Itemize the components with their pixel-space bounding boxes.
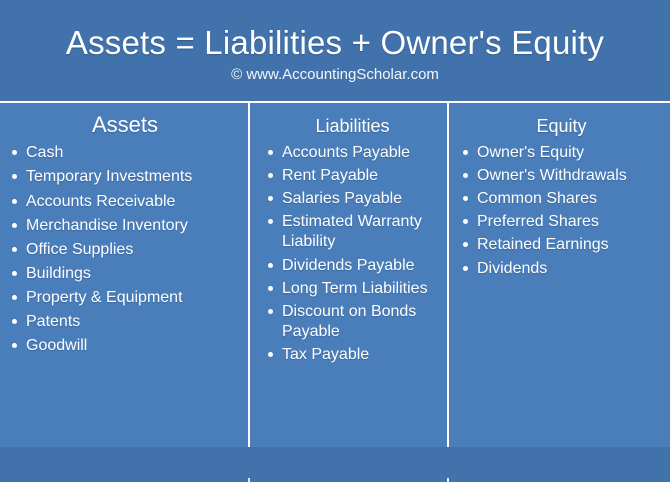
page-title: Assets = Liabilities + Owner's Equity (0, 0, 670, 61)
column-divider-stub-left (248, 478, 250, 482)
list-item-label: Dividends Payable (282, 257, 415, 274)
bullet-icon (12, 343, 17, 348)
list-item-label: Dividends (477, 260, 547, 277)
bullet-icon (463, 196, 468, 201)
list-item-label: Accounts Payable (282, 144, 410, 161)
column-assets: Assets Cash Temporary Investments Accoun… (0, 103, 248, 447)
column-heading-liabilities: Liabilities (266, 109, 439, 143)
list-item: Office Supplies (10, 240, 240, 260)
list-item: Discount on Bonds Payable (266, 302, 439, 342)
column-liabilities: Liabilities Accounts Payable Rent Payabl… (248, 103, 447, 447)
list-item: Rent Payable (266, 166, 439, 186)
list-item: Cash (10, 143, 240, 163)
column-divider-stub-right (447, 478, 449, 482)
list-item-label: Discount on Bonds Payable (282, 303, 416, 340)
accounting-equation-slide: Assets = Liabilities + Owner's Equity © … (0, 0, 670, 482)
list-item: Accounts Receivable (10, 192, 240, 212)
list-item: Temporary Investments (10, 167, 240, 187)
list-item-label: Long Term Liabilities (282, 280, 428, 297)
list-item-label: Accounts Receivable (26, 193, 175, 210)
list-item: Property & Equipment (10, 288, 240, 308)
list-item: Long Term Liabilities (266, 279, 439, 299)
list-item: Owner's Equity (461, 143, 662, 163)
footer-band (0, 447, 670, 482)
list-item-label: Owner's Withdrawals (477, 167, 627, 184)
bullet-icon (12, 174, 17, 179)
list-item-label: Owner's Equity (477, 144, 584, 161)
list-item-label: Preferred Shares (477, 213, 599, 230)
bullet-icon (268, 352, 273, 357)
list-item-label: Merchandise Inventory (26, 217, 188, 234)
list-item-label: Common Shares (477, 190, 597, 207)
bullet-icon (463, 173, 468, 178)
bullet-icon (12, 223, 17, 228)
column-equity: Equity Owner's Equity Owner's Withdrawal… (447, 103, 670, 447)
list-item: Owner's Withdrawals (461, 166, 662, 186)
bullet-icon (12, 150, 17, 155)
slide-header: Assets = Liabilities + Owner's Equity © … (0, 0, 670, 101)
bullet-icon (12, 247, 17, 252)
bullet-icon (12, 295, 17, 300)
bullet-icon (268, 286, 273, 291)
bullet-icon (463, 150, 468, 155)
bullet-icon (268, 196, 273, 201)
list-item: Tax Payable (266, 345, 439, 365)
list-item-label: Property & Equipment (26, 289, 183, 306)
list-item-label: Patents (26, 313, 80, 330)
column-heading-assets: Assets (10, 109, 240, 143)
bullet-icon (463, 219, 468, 224)
copyright-subtitle: © www.AccountingScholar.com (0, 61, 670, 83)
bullet-icon (268, 263, 273, 268)
list-item-label: Estimated Warranty Liability (282, 213, 422, 250)
column-heading-equity: Equity (461, 109, 662, 143)
list-item: Salaries Payable (266, 189, 439, 209)
bullet-icon (12, 319, 17, 324)
list-item-label: Salaries Payable (282, 190, 402, 207)
list-item: Goodwill (10, 336, 240, 356)
bullet-icon (12, 199, 17, 204)
list-item: Patents (10, 312, 240, 332)
assets-list: Cash Temporary Investments Accounts Rece… (10, 143, 240, 356)
list-item-label: Buildings (26, 265, 91, 282)
liabilities-list: Accounts Payable Rent Payable Salaries P… (266, 143, 439, 366)
list-item-label: Office Supplies (26, 241, 133, 258)
list-item-label: Retained Earnings (477, 236, 609, 253)
list-item: Common Shares (461, 189, 662, 209)
list-item-label: Goodwill (26, 337, 87, 354)
bullet-icon (463, 266, 468, 271)
list-item: Buildings (10, 264, 240, 284)
list-item-label: Tax Payable (282, 346, 369, 363)
list-item: Dividends (461, 259, 662, 279)
list-item-label: Cash (26, 144, 63, 161)
equation-columns-panel: Assets Cash Temporary Investments Accoun… (0, 101, 670, 447)
bullet-icon (268, 150, 273, 155)
bullet-icon (268, 173, 273, 178)
equity-list: Owner's Equity Owner's Withdrawals Commo… (461, 143, 662, 279)
list-item: Estimated Warranty Liability (266, 212, 439, 252)
bullet-icon (12, 271, 17, 276)
list-item: Dividends Payable (266, 256, 439, 276)
list-item-label: Temporary Investments (26, 168, 192, 185)
list-item: Preferred Shares (461, 212, 662, 232)
list-item: Accounts Payable (266, 143, 439, 163)
list-item: Retained Earnings (461, 235, 662, 255)
list-item-label: Rent Payable (282, 167, 378, 184)
bullet-icon (463, 242, 468, 247)
list-item: Merchandise Inventory (10, 216, 240, 236)
bullet-icon (268, 309, 273, 314)
bullet-icon (268, 219, 273, 224)
